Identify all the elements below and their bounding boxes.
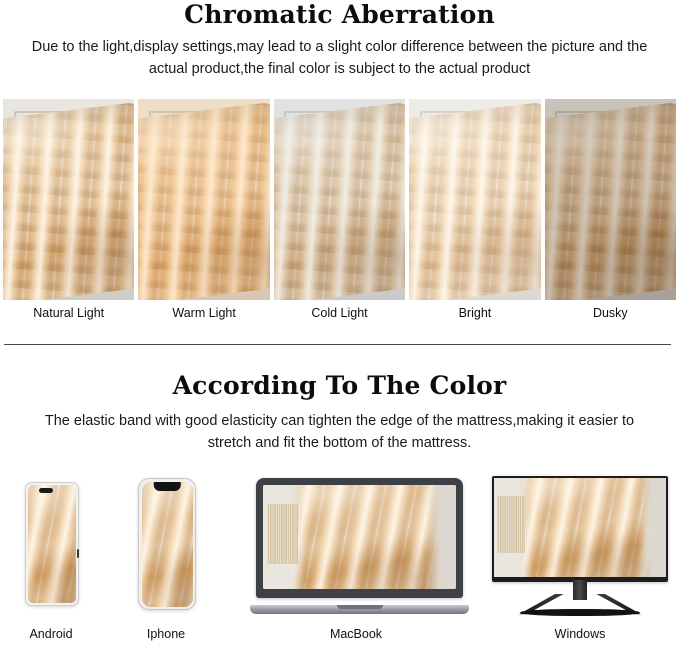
fur-blanket: [3, 101, 134, 300]
photo-label-cold-light: Cold Light: [274, 306, 405, 326]
chromatic-aberration-description: Due to the light,display settings,may le…: [24, 36, 655, 81]
photo-label-bright: Bright: [409, 306, 540, 326]
android-screen: [28, 485, 76, 603]
device-label-windows: Windows: [555, 627, 606, 641]
photo-warm-light: [138, 99, 269, 300]
iphone-screen: [142, 482, 193, 607]
fur-blanket: [274, 101, 405, 300]
camera-notch-icon: [154, 482, 181, 491]
chromatic-aberration-title: Chromatic Aberration: [0, 1, 679, 29]
iphone-mockup: [138, 478, 196, 610]
camera-notch-icon: [39, 488, 53, 493]
device-label-iphone: Iphone: [147, 627, 185, 641]
monitor-screen: [494, 478, 666, 577]
fur-blanket: [138, 101, 269, 300]
macbook-screen: [263, 485, 456, 589]
device-labels: Android Iphone MacBook Windows: [0, 627, 679, 645]
fur-blanket-image: [142, 482, 193, 607]
fur-blanket-image: [28, 485, 76, 603]
photo-label-dusky: Dusky: [545, 306, 676, 326]
photo-cold-light: [274, 99, 405, 300]
device-label-android: Android: [29, 627, 72, 641]
photo-label-natural-light: Natural Light: [3, 306, 134, 326]
light-condition-labels: Natural Light Warm Light Cold Light Brig…: [3, 306, 676, 326]
photo-dusky: [545, 99, 676, 300]
fur-blanket: [545, 101, 676, 300]
photo-natural-light: [3, 99, 134, 300]
photo-label-warm-light: Warm Light: [138, 306, 269, 326]
device-label-macbook: MacBook: [330, 627, 382, 641]
product-detail-page: Chromatic Aberration Due to the light,di…: [0, 0, 679, 645]
macbook-mockup: [250, 478, 469, 614]
according-to-the-color-description: The elastic band with good elasticity ca…: [36, 410, 643, 455]
trackpad-notch-icon: [337, 605, 383, 609]
rattan-headboard: [497, 496, 525, 553]
android-phone-mockup: [25, 482, 79, 606]
photo-bright: [409, 99, 540, 300]
light-condition-photo-strip: [3, 99, 676, 300]
rattan-headboard: [267, 504, 298, 564]
windows-monitor-mockup: [492, 476, 668, 616]
monitor-foot: [520, 609, 640, 616]
section-divider: [4, 344, 671, 345]
macbook-base: [250, 605, 469, 614]
macbook-lid: [256, 478, 463, 598]
fur-blanket: [409, 101, 540, 300]
power-button[interactable]: [77, 549, 79, 558]
monitor-frame: [492, 476, 668, 582]
according-to-the-color-title: According To The Color: [0, 372, 679, 400]
device-mockup-row: [0, 470, 679, 620]
